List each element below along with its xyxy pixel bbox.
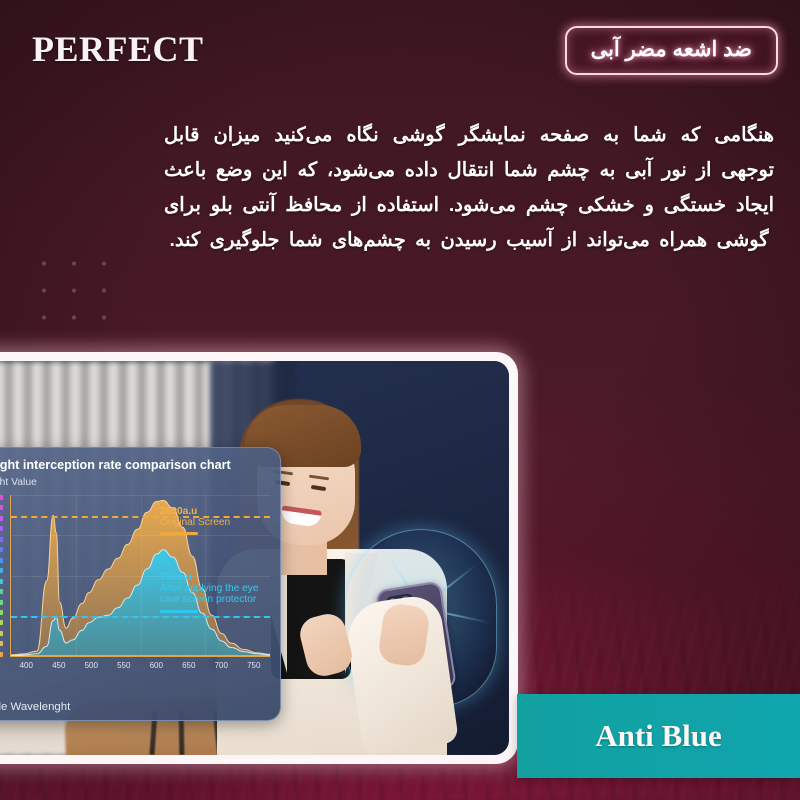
chart-x-tick: 450 xyxy=(43,661,76,670)
anti-blue-footer-band: Anti Blue xyxy=(517,694,800,778)
spectrum-swatch xyxy=(0,610,3,615)
chart-x-tick: 650 xyxy=(173,661,206,670)
product-photo-card: Blue light interception rate comparison … xyxy=(0,352,518,764)
chart-x-axis-label: Visible Wavelenght xyxy=(0,701,70,713)
chart-x-tick: 500 xyxy=(75,661,108,670)
chart-x-tick: 750 xyxy=(238,661,271,670)
spectrum-swatch xyxy=(0,631,3,636)
spectrum-swatch xyxy=(0,620,3,625)
spectrum-swatch xyxy=(0,516,3,521)
neon-badge-label: ضد اشعه مضر آبی xyxy=(591,37,752,62)
spectrum-color-bar xyxy=(0,495,3,657)
brand-logo: PERFECT xyxy=(32,28,204,70)
chart-y-axis-label: Blue Light Value xyxy=(0,477,270,488)
legend-value: 2600a.u xyxy=(160,506,230,517)
legend-value: 750a.u xyxy=(160,572,280,583)
spectrum-swatch xyxy=(0,547,3,552)
chart-x-tick: 400 xyxy=(10,661,43,670)
spectrum-swatch xyxy=(0,589,3,594)
spectrum-swatch xyxy=(0,641,3,646)
chart-x-tick: 600 xyxy=(140,661,173,670)
reference-line-original xyxy=(11,516,270,518)
spectrum-swatch xyxy=(0,526,3,531)
chart-x-tick: 700 xyxy=(205,661,238,670)
chart-title: Blue light interception rate comparison … xyxy=(0,458,270,472)
anti-blue-label: Anti Blue xyxy=(595,718,722,754)
dot-grid-decoration xyxy=(26,247,124,339)
spectrum-swatch xyxy=(0,537,3,542)
gridline xyxy=(76,495,77,656)
legend-swatch xyxy=(160,532,198,535)
spectrum-swatch xyxy=(0,568,3,573)
spectrum-swatch xyxy=(0,505,3,510)
spectrum-swatch xyxy=(0,579,3,584)
description-paragraph: هنگامی که شما به صفحه نمایشگر گوشی نگاه … xyxy=(164,118,774,258)
legend-original-screen: 2600a.u Original Screen xyxy=(160,506,230,535)
spectrum-swatch xyxy=(0,495,3,500)
spectrum-swatch xyxy=(0,600,3,605)
spectrum-swatch xyxy=(0,652,3,657)
anti-blue-neon-badge: ضد اشعه مضر آبی xyxy=(565,26,778,75)
legend-description: After applying the eye care screen prote… xyxy=(160,583,280,606)
blue-light-chart-panel: Blue light interception rate comparison … xyxy=(0,447,281,721)
chart-x-tick-labels: 400450500550600650700750 xyxy=(10,661,270,670)
product-photo: Blue light interception rate comparison … xyxy=(0,361,509,755)
legend-eye-care-protector: 750a.u After applying the eye care scree… xyxy=(160,572,280,613)
spectrum-swatch xyxy=(0,558,3,563)
chart-x-tick: 550 xyxy=(108,661,141,670)
gridline xyxy=(141,495,142,656)
legend-swatch xyxy=(160,610,198,613)
legend-description: Original Screen xyxy=(160,517,230,528)
reference-line-protected xyxy=(11,616,270,618)
